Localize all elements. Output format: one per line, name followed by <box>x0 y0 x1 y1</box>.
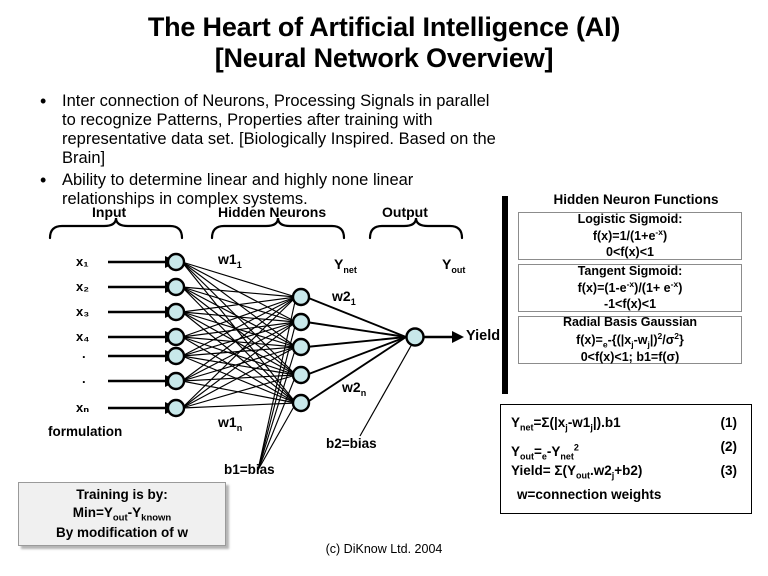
equation-body: Ynet=Σ(|xj-w1j|).b1 <box>511 415 621 430</box>
slide-canvas: The Heart of Artificial Intelligence (AI… <box>0 0 768 576</box>
formulation-label: formulation <box>48 424 122 439</box>
yout-label: Yout <box>442 256 465 275</box>
input-label-xn: xₙ <box>76 400 89 416</box>
bullet-marker-icon: • <box>40 91 46 112</box>
hidden-nodes <box>293 289 309 411</box>
bullet-item: • Inter connection of Neurons, Processin… <box>34 92 504 169</box>
function-range: 0<f(x)<1; b1=f(σ) <box>581 350 680 365</box>
input-label-x1: x₁ <box>76 254 89 269</box>
ynet-label: Ynet <box>334 256 357 275</box>
equation-number: (1) <box>721 413 738 433</box>
weight-w2-last-label: w2n <box>342 379 366 398</box>
edges-input-hidden <box>182 262 296 408</box>
footer-copyright: (c) DiKnow Ltd. 2004 <box>0 542 768 556</box>
equation-row: Yout=e-Ynet2 (2) <box>511 437 751 461</box>
equation-number: (3) <box>721 461 738 481</box>
equation-number: (2) <box>721 437 738 457</box>
equations-box: Ynet=Σ(|xj-w1j|).b1 (1) Yout=e-Ynet2 (2)… <box>500 404 752 514</box>
bullet-list: • Inter connection of Neurons, Processin… <box>34 92 504 211</box>
input-nodes <box>168 254 184 416</box>
input-label-x4: x₄ <box>76 329 89 344</box>
function-range: -1<f(x)<1 <box>604 297 656 312</box>
brace-input <box>50 218 182 238</box>
equation-body: Yield= Σ(Yout.w2j+b2) <box>511 463 642 478</box>
bias-b2-label: b2=bias <box>326 436 377 451</box>
title-line-2: [Neural Network Overview] <box>0 43 768 74</box>
brace-hidden <box>212 218 344 238</box>
function-box-logistic-sigmoid: Logistic Sigmoid: f(x)=1/(1+e-x) 0<f(x)<… <box>518 212 742 260</box>
function-formula: f(x)=e-{(|xj-wj|)2/σ2} <box>576 331 684 350</box>
hidden-neuron-functions-heading: Hidden Neuron Functions <box>516 192 756 207</box>
equations-note: w=connection weights <box>511 485 751 505</box>
function-formula: f(x)=(1-e-x)/(1+ e-x) <box>578 279 683 296</box>
equation-row: Ynet=Σ(|xj-w1j|).b1 (1) <box>511 413 751 437</box>
output-node <box>407 329 424 346</box>
function-name: Logistic Sigmoid: <box>578 212 683 227</box>
output-arrow <box>424 331 464 343</box>
network-graph-svg <box>0 196 500 496</box>
training-box: Training is by: Min=Yout-Yknown By modif… <box>18 482 226 546</box>
function-box-tangent-sigmoid: Tangent Sigmoid: f(x)=(1-e-x)/(1+ e-x) -… <box>518 264 742 312</box>
weight-w1-first-label: w11 <box>218 251 242 270</box>
training-line-1: Training is by: <box>76 486 168 503</box>
training-line-3: By modification of w <box>56 524 188 541</box>
panel-accent-bar <box>502 196 508 394</box>
function-formula: f(x)=1/(1+e-x) <box>593 227 667 244</box>
bullet-text: Inter connection of Neurons, Processing … <box>62 92 496 167</box>
brace-output <box>370 218 462 238</box>
input-label-x3: x₃ <box>76 304 89 319</box>
training-line-2: Min=Yout-Yknown <box>73 504 172 525</box>
input-label-x2: x₂ <box>76 279 89 294</box>
function-box-radial-basis-gaussian: Radial Basis Gaussian f(x)=e-{(|xj-wj|)2… <box>518 316 742 364</box>
function-range: 0<f(x)<1 <box>606 245 654 260</box>
function-name: Tangent Sigmoid: <box>578 264 683 279</box>
input-label-dot-1: . <box>82 346 86 361</box>
input-label-dot-2: . <box>82 371 86 386</box>
bias-b1-label: b1=bias <box>224 462 275 477</box>
weight-w2-first-label: w21 <box>332 288 356 307</box>
input-arrows <box>108 262 165 408</box>
bias-b2-edge <box>360 344 412 436</box>
equation-row: Yield= Σ(Yout.w2j+b2) (3) <box>511 461 751 485</box>
neural-network-diagram: Input Hidden Neurons Output <box>0 196 500 496</box>
weight-w1-last-label: w1n <box>218 414 242 433</box>
yield-label: Yield <box>466 328 500 344</box>
title-line-1: The Heart of Artificial Intelligence (AI… <box>148 12 620 42</box>
equation-body: Yout=e-Ynet2 <box>511 444 579 459</box>
function-name: Radial Basis Gaussian <box>563 315 697 330</box>
page-title: The Heart of Artificial Intelligence (AI… <box>0 12 768 75</box>
bullet-marker-icon: • <box>40 170 46 191</box>
